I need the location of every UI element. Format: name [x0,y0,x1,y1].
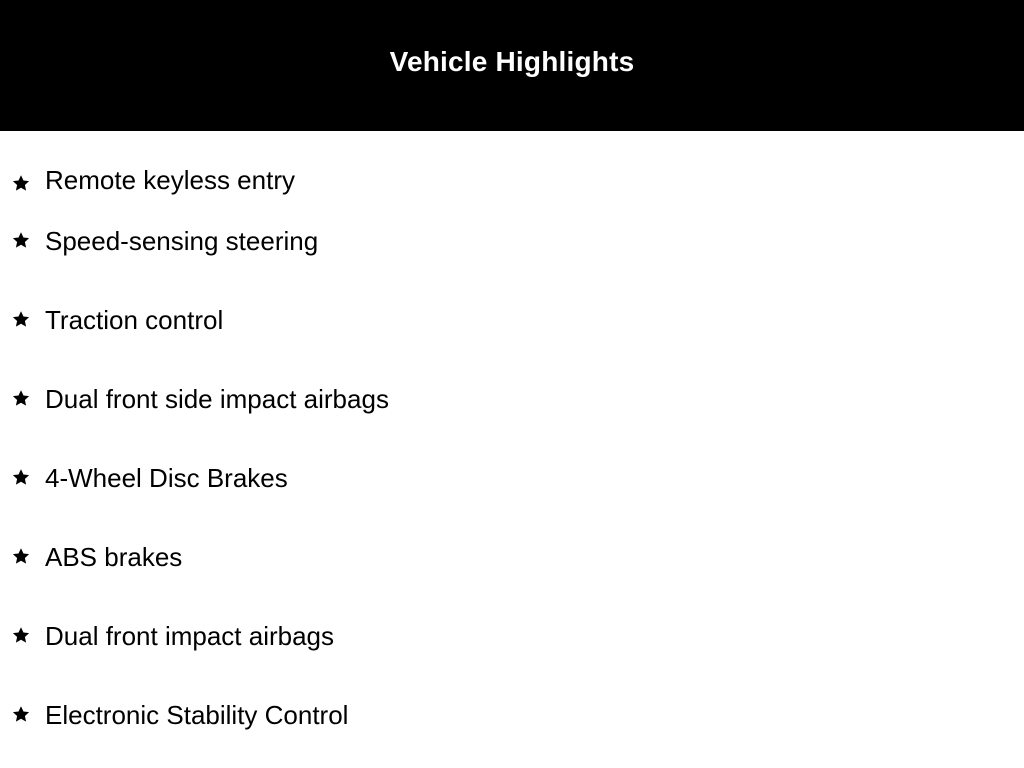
star-icon [12,310,30,328]
list-item-label: ABS brakes [45,544,182,570]
list-item: Speed-sensing steering [0,201,1024,280]
list-item-label: Dual front impact airbags [45,623,334,649]
list-item-label: Dual front side impact airbags [45,386,389,412]
list-item-label: Speed-sensing steering [45,228,318,254]
list-item: Dual front impact airbags [0,596,1024,675]
vehicle-highlights-page: Vehicle Highlights Remote keyless entry … [0,0,1024,768]
list-item: Remote keyless entry [0,131,1024,201]
list-item: 4-Wheel Disc Brakes [0,438,1024,517]
star-icon [12,231,30,249]
star-icon [12,174,30,192]
list-item-label: Traction control [45,307,223,333]
list-item-label: Electronic Stability Control [45,702,348,728]
star-icon [12,626,30,644]
header-band: Vehicle Highlights [0,0,1024,131]
list-item: Dual front side impact airbags [0,359,1024,438]
list-item-label: Remote keyless entry [45,167,295,193]
star-icon [12,468,30,486]
star-icon [12,389,30,407]
star-icon [12,547,30,565]
page-title: Vehicle Highlights [0,0,1024,131]
list-item: ABS brakes [0,517,1024,596]
list-item: Traction control [0,280,1024,359]
star-icon [12,705,30,723]
highlights-list: Remote keyless entry Speed-sensing steer… [0,131,1024,754]
list-item-label: 4-Wheel Disc Brakes [45,465,288,491]
list-item: Electronic Stability Control [0,675,1024,754]
